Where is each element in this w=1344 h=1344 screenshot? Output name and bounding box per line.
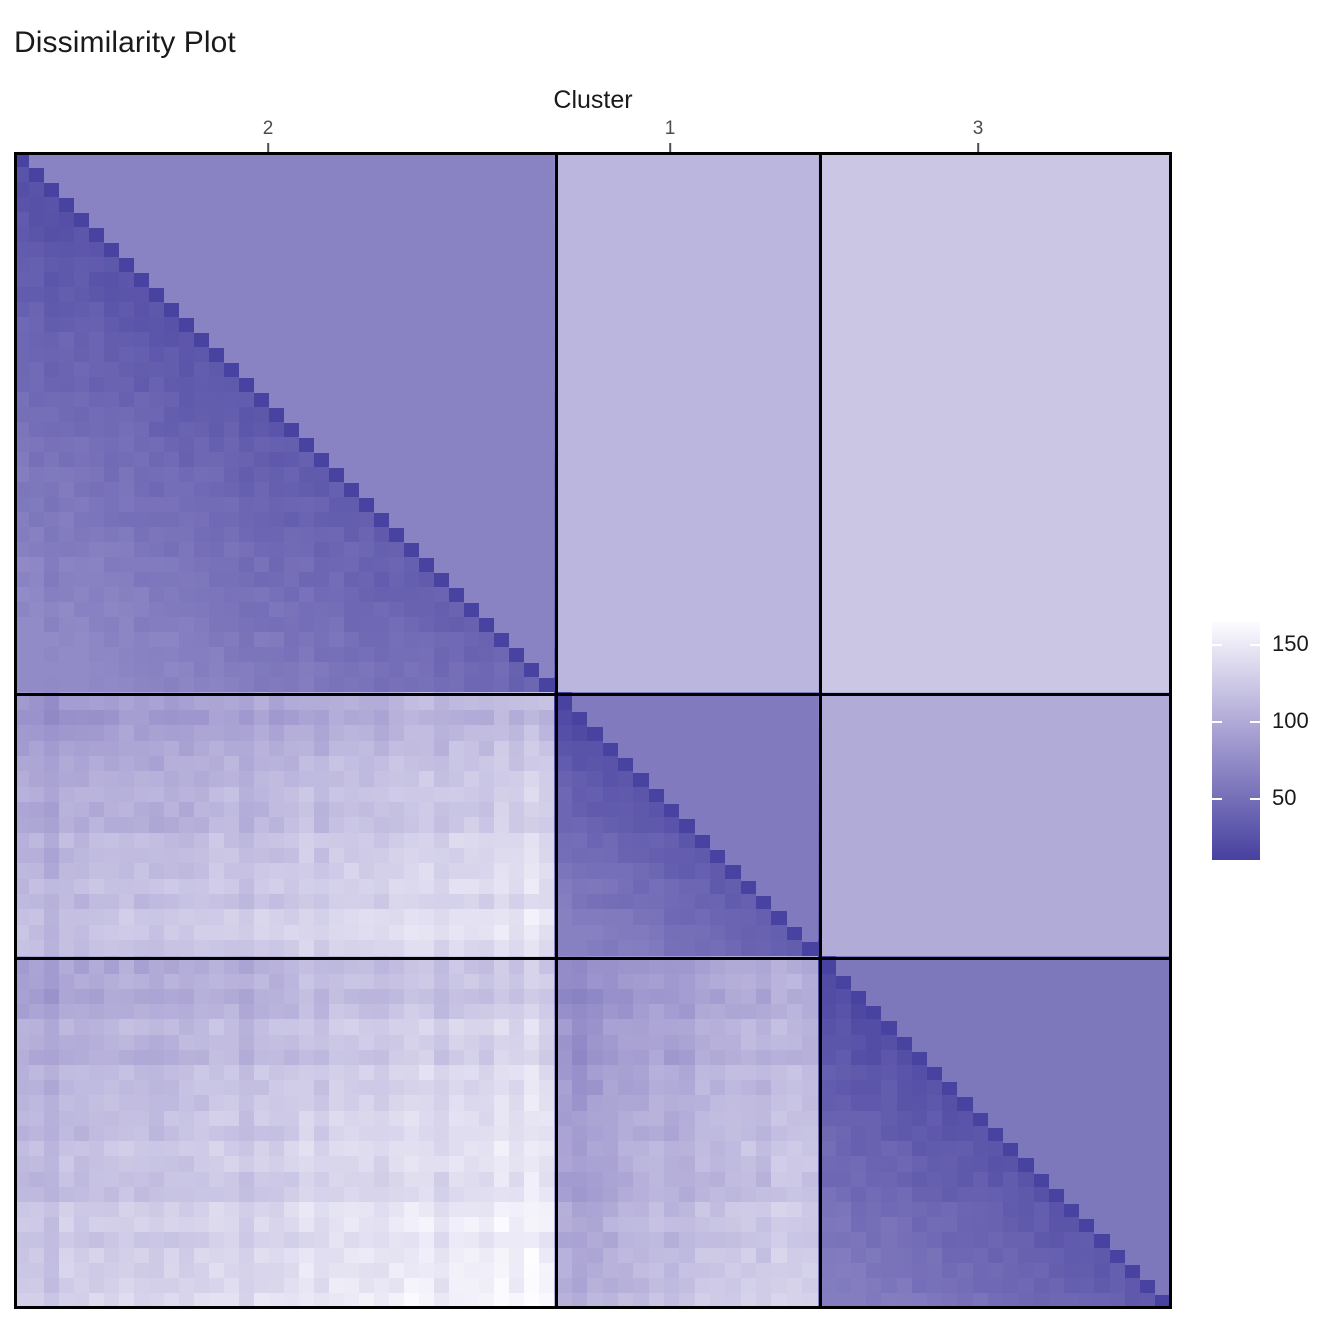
colorbar-gradient: [1212, 622, 1260, 860]
axis-tick-mark-3: [977, 143, 979, 152]
colorbar-tick-mark-right-50: [1250, 798, 1260, 800]
axis-tick-mark-2: [267, 143, 269, 152]
axis-tick-label-3: 3: [973, 118, 984, 140]
colorbar-tick-mark-left-150: [1212, 644, 1222, 646]
colorbar-tick-label-150: 150: [1272, 631, 1309, 657]
axis-tick-mark-1: [669, 143, 671, 152]
axis-tick-label-2: 2: [263, 118, 274, 140]
colorbar-tick-mark-right-150: [1250, 644, 1260, 646]
colorbar-tick-label-50: 50: [1272, 785, 1296, 811]
page-title: Dissimilarity Plot: [14, 26, 236, 60]
axis-title-cluster: Cluster: [0, 86, 1186, 115]
dissimilarity-plot-figure: Dissimilarity Plot Cluster 213 15010050: [0, 0, 1344, 1344]
colorbar-tick-mark-right-100: [1250, 721, 1260, 723]
colorbar-tick-label-100: 100: [1272, 708, 1309, 734]
colorbar-tick-mark-left-50: [1212, 798, 1222, 800]
axis-tick-label-1: 1: [665, 118, 676, 140]
heatmap-matrix: [14, 152, 1172, 1309]
colorbar-tick-mark-left-100: [1212, 721, 1222, 723]
heatmap-panel: [14, 152, 1172, 1309]
